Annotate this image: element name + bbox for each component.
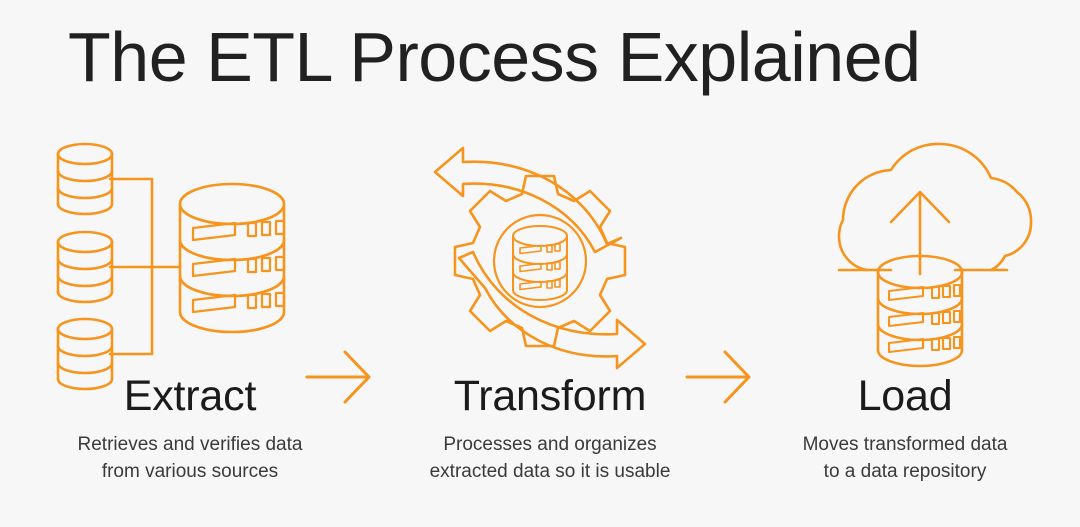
cloud-upload-database-icon [795, 132, 1045, 382]
stage-icons-row [0, 132, 1080, 382]
inner-database [513, 226, 567, 300]
source-database-2 [58, 232, 112, 302]
stage-desc-extract: Retrieves and verifies data from various… [20, 432, 360, 486]
stage-captions-row: Extract Retrieves and verifies data from… [0, 372, 1080, 527]
caption-load: Load Moves transformed data to a data re… [740, 372, 1070, 486]
page-title: The ETL Process Explained [68, 18, 921, 96]
cycle-arrow-top [435, 148, 621, 252]
stage-title-extract: Extract [20, 372, 360, 420]
upload-arrow-icon [891, 192, 949, 274]
load-icon-group [795, 132, 1045, 382]
caption-extract: Extract Retrieves and verifies data from… [20, 372, 360, 486]
source-database-1 [58, 144, 112, 214]
stage-desc-transform: Processes and organizes extracted data s… [370, 432, 730, 486]
caption-transform: Transform Processes and organizes extrac… [370, 372, 730, 486]
stage-desc-extract-line2: from various sources [20, 459, 360, 486]
databases-to-server-icon [40, 132, 320, 382]
stage-desc-load-line2: to a data repository [740, 459, 1070, 486]
stage-desc-extract-line1: Retrieves and verifies data [20, 432, 360, 459]
stage-title-load: Load [740, 372, 1070, 420]
stage-desc-transform-line2: extracted data so it is usable [370, 459, 730, 486]
stage-desc-transform-line1: Processes and organizes [370, 432, 730, 459]
stage-title-transform: Transform [370, 372, 730, 420]
etl-infographic: The ETL Process Explained [0, 0, 1080, 527]
stage-desc-load-line1: Moves transformed data [740, 432, 1070, 459]
transform-icon-group [415, 132, 665, 382]
stage-desc-load: Moves transformed data to a data reposit… [740, 432, 1070, 486]
connector-lines [110, 179, 180, 354]
target-server-database [180, 184, 284, 332]
gear-database-cycle-icon [415, 132, 665, 382]
extract-icon-group [40, 132, 320, 382]
